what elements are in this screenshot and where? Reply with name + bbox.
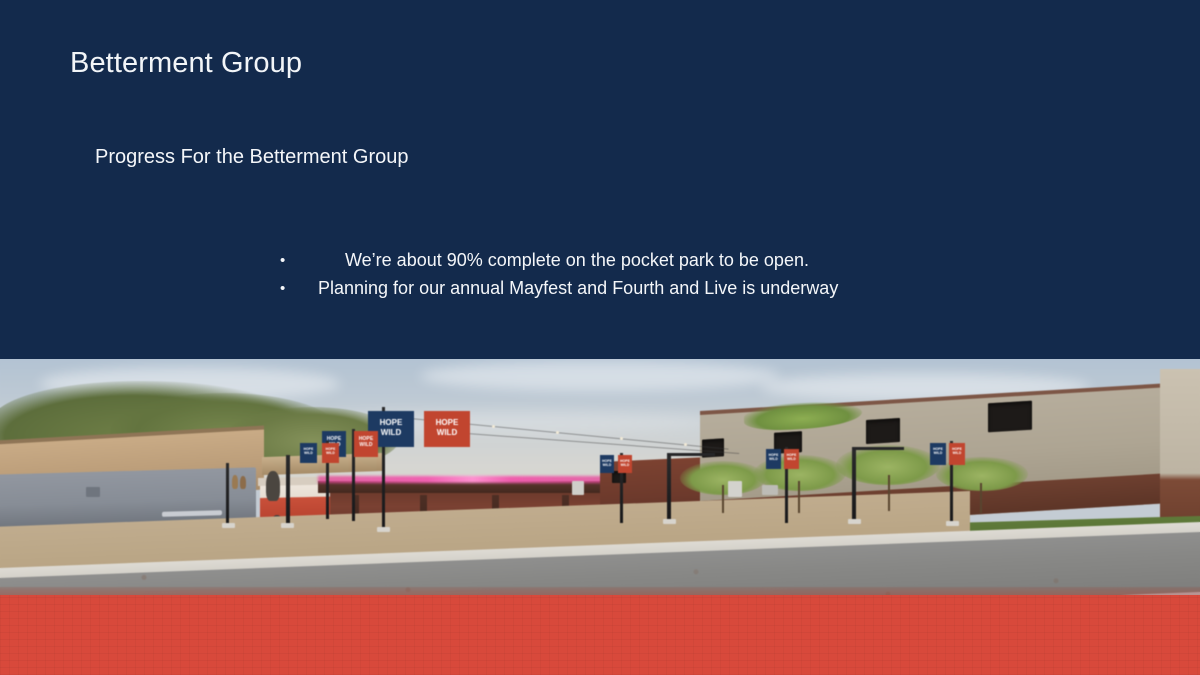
banner-line-2: WILD <box>304 451 313 455</box>
string-light-bulb <box>556 431 559 434</box>
banner-line-2: WILD <box>603 463 612 467</box>
banner-sign-hope-wild: HOPE WILD <box>322 443 339 463</box>
banner-line-2: WILD <box>787 457 796 461</box>
banner-sign-hope-wild: HOPE WILD <box>930 443 946 465</box>
bullet-point-icon: • <box>280 253 288 268</box>
banner-sign-hope-wild: HOPE WILD <box>766 449 781 469</box>
trash-receptacle <box>572 481 584 495</box>
banner-line-2: WILD <box>769 457 778 461</box>
slide-subtitle: Progress For the Betterment Group <box>95 146 408 169</box>
banner-line-2: WILD <box>381 428 401 437</box>
pavilion-accent-lighting <box>318 476 640 483</box>
light-pole <box>667 455 671 521</box>
tree-trunk <box>722 485 724 513</box>
tree-trunk <box>888 475 890 511</box>
tree-trunk <box>980 483 982 513</box>
utility-box <box>762 485 778 495</box>
light-pole <box>286 455 290 525</box>
project-rendering-image: Caney <box>0 359 1200 595</box>
utility-box <box>728 481 742 497</box>
banner-line-1: HOPE <box>436 418 459 427</box>
person-figure <box>232 475 238 489</box>
pole-base <box>222 523 235 528</box>
presentation-slide: Betterment Group Progress For the Better… <box>0 0 1200 675</box>
warehouse-end-wall <box>1160 369 1200 537</box>
string-light-bulb <box>492 425 495 428</box>
banner-line-2: WILD <box>359 442 372 448</box>
banner-sign-hope-wild: HOPE WILD <box>618 455 632 473</box>
page-title: Betterment Group <box>70 47 302 80</box>
banner-sign-hope-wild: HOPE WILD <box>600 455 614 473</box>
banner-line-2: WILD <box>326 451 335 455</box>
pole-base <box>281 523 294 528</box>
pole-base <box>663 519 676 524</box>
banner-sign-hope-wild: HOPE WILD <box>784 449 799 469</box>
window <box>866 418 900 444</box>
string-light-bulb <box>620 437 623 440</box>
banner-sign-hope-wild: HOPE WILD <box>949 443 965 465</box>
banner-sign-hope-wild: HOPE WILD <box>300 443 317 463</box>
banner-sign-hope-wild: HOPE WILD <box>354 431 378 457</box>
pole-base <box>848 519 861 524</box>
window <box>988 401 1032 433</box>
banner-line-2: WILD <box>934 451 943 455</box>
list-item-text: Planning for our annual Mayfest and Four… <box>288 274 838 302</box>
list-item: • Planning for our annual Mayfest and Fo… <box>280 274 1100 302</box>
bullet-point-icon: • <box>280 281 288 296</box>
banner-sign-hope-wild: HOPE WILD <box>424 411 470 447</box>
banner-line-1: HOPE <box>380 418 403 427</box>
bullet-list: • We’re about 90% complete on the pocket… <box>280 246 1100 303</box>
footer-band: Caney KS <box>0 595 1200 675</box>
banner-line-2: WILD <box>621 463 630 467</box>
list-item: • We’re about 90% complete on the pocket… <box>280 246 1100 274</box>
person-figure <box>240 476 246 489</box>
pole-base <box>946 521 959 526</box>
banner-line-2: WILD <box>953 451 962 455</box>
light-pole-arm <box>667 453 715 456</box>
slide-content-panel: Betterment Group Progress For the Better… <box>0 0 1200 359</box>
light-pole <box>226 463 229 525</box>
string-light-bulb <box>684 443 687 446</box>
list-item-text: We’re about 90% complete on the pocket p… <box>288 246 809 274</box>
street-shoulder <box>0 587 1200 595</box>
light-pole <box>852 449 856 521</box>
cloud <box>420 361 780 391</box>
person-figure <box>266 471 280 501</box>
trailer-vent <box>86 487 100 497</box>
banner-pole-base <box>377 527 390 532</box>
banner-line-2: WILD <box>437 428 457 437</box>
tree-trunk <box>798 481 800 513</box>
light-pole-arm <box>852 447 904 450</box>
